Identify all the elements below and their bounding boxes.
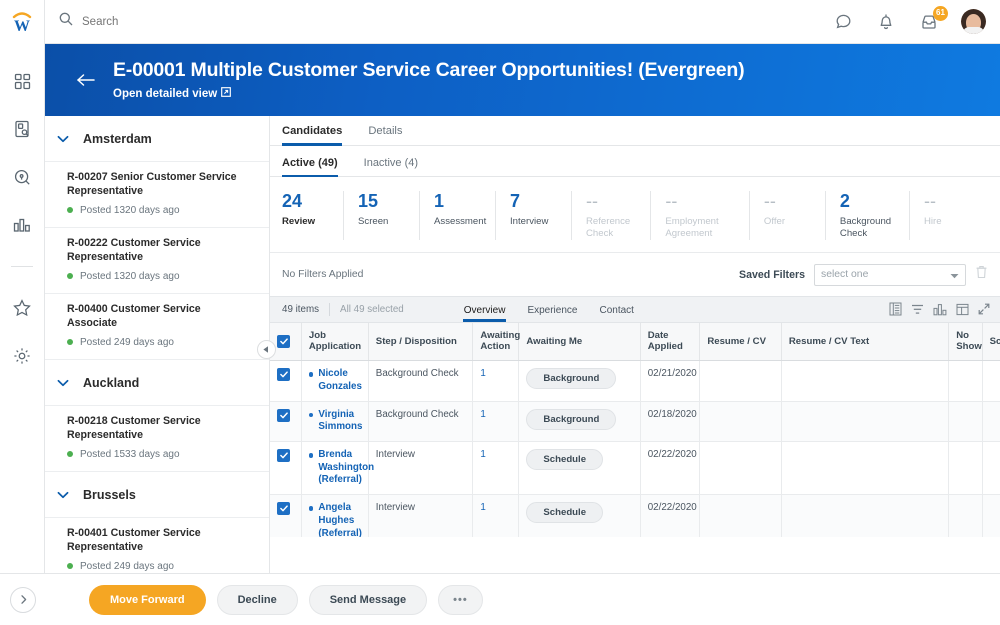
main-tabs: CandidatesDetails [270,116,1000,146]
search-area[interactable] [59,12,832,31]
column-header-sc[interactable]: Sc [982,323,1000,361]
chat-bubble-icon[interactable] [832,11,854,33]
cell-step: Interview [368,442,473,495]
pipeline-stage[interactable]: --Employment Agreement [665,191,750,240]
grid-toolbar-icons [889,302,990,316]
search-input[interactable] [82,16,402,28]
pipeline-stage-count: 2 [840,191,895,212]
pipeline-stage[interactable]: 15Screen [358,191,420,240]
requisition-title: R-00401 Customer Service Representative [67,527,253,555]
cell-resume [700,442,782,495]
subtab-inactive-4-[interactable]: Inactive (4) [364,157,418,176]
row-checkbox[interactable] [277,449,290,462]
no-filters-applied-label: No Filters Applied [282,269,363,280]
requisition-title: R-00222 Customer Service Representative [67,237,253,265]
requisition-title: R-00207 Senior Customer Service Represen… [67,171,253,199]
awaiting-action-cell: 1 [473,442,519,495]
awaiting-me-action-button[interactable]: Schedule [526,449,603,470]
chevron-down-icon [950,266,959,284]
candidate-status-dot-icon [309,453,314,458]
cell-date_applied: 02/18/2020 [640,401,700,441]
page-banner: E-00001 Multiple Customer Service Career… [45,44,1000,116]
awaiting-me-action-button[interactable]: Schedule [526,502,603,523]
pipeline-stage[interactable]: --Offer [764,191,826,240]
awaiting-action-count[interactable]: 1 [480,502,485,513]
action-buttons: Move ForwardDeclineSend Message••• [89,585,483,615]
apps-grid-icon[interactable] [11,70,33,92]
pipeline-stage-label: Reference Check [586,216,636,240]
cell-date_applied: 02/22/2020 [640,495,700,537]
pipeline-stage[interactable]: --Reference Check [586,191,651,240]
candidate-name-link[interactable]: Nicole Gonzales [318,368,362,393]
cell-step: Background Check [368,401,473,441]
chart-icon[interactable] [933,303,947,316]
row-checkbox[interactable] [277,368,290,381]
candidate-name-link[interactable]: Virginia Simmons [318,409,362,434]
pipeline-stage-count: 24 [282,191,329,212]
grid-item-count: 49 items [282,304,319,315]
pipeline-stage-label: Hire [924,216,972,228]
pipeline-stage-label: Employment Agreement [665,216,735,240]
candidate-name-link[interactable]: Brenda Washington (Referral) [318,449,374,487]
main-content: CandidatesDetails Active (49)Inactive (4… [270,116,1000,573]
awaiting-me-action-button[interactable]: Background [526,409,616,430]
awaiting-action-count[interactable]: 1 [480,409,485,420]
status-dot-icon [67,563,73,569]
requisition-posted: Posted 249 days ago [80,561,174,572]
saved-filters-label: Saved Filters [739,269,805,281]
awaiting-action-cell: 1 [473,495,519,537]
column-header-step[interactable]: Step / Disposition [368,323,473,361]
row-checkbox[interactable] [277,502,290,515]
cell-resume_text [781,401,948,441]
pipeline-stage-count: -- [665,191,735,212]
user-avatar[interactable] [961,9,986,34]
candidate-status-dot-icon [309,372,314,377]
row-checkbox-cell [270,361,301,401]
candidate-name-cell: Brenda Washington (Referral) [301,442,368,495]
list-view-icon[interactable] [889,302,902,316]
city-group-label: Brussels [83,488,136,502]
move-forward-button[interactable]: Move Forward [89,585,206,615]
cell-resume_text [781,495,948,537]
awaiting-me-cell: Background [519,401,640,441]
select-all-header [270,323,301,361]
candidate-name-link[interactable]: Angela Hughes (Referral) [318,502,362,536]
columns-icon[interactable] [956,303,969,316]
bell-icon[interactable] [875,11,897,33]
filters-row: No Filters Applied Saved Filters select … [270,253,1000,296]
city-group-header[interactable]: Auckland [45,360,269,406]
column-header-awaiting_action[interactable]: Awaiting Action [473,323,519,361]
pipeline-stage-count: 7 [510,191,557,212]
cell-date_applied: 02/21/2020 [640,361,700,401]
bar-chart-icon[interactable] [11,214,33,236]
pipeline-stage-count: 15 [358,191,405,212]
requisition-title: R-00400 Customer Service Associate [67,303,253,331]
city-group-header[interactable]: Amsterdam [45,116,269,162]
tab-details[interactable]: Details [368,125,402,145]
table-header-row: Job ApplicationStep / DispositionAwaitin… [270,323,1000,361]
cell-sc [982,495,1000,537]
cell-resume_text [781,361,948,401]
decline-button[interactable]: Decline [217,585,298,615]
requisition-posted: Posted 1320 days ago [80,271,180,282]
pipeline-stage[interactable]: 1Assessment [434,191,496,240]
pipeline-stage-count: 1 [434,191,481,212]
candidate-status-dot-icon [309,506,314,511]
pipeline-stage[interactable]: 7Interview [510,191,572,240]
left-icon-rail: W [0,0,45,625]
awaiting-me-cell: Schedule [519,442,640,495]
pipeline-stage-count: -- [586,191,636,212]
pipeline-stage[interactable]: --Hire [924,191,986,240]
requisition-item[interactable]: R-00401 Customer Service RepresentativeP… [45,518,269,573]
chevron-left-circle-icon[interactable] [257,340,276,359]
pipeline-stages: 24Review15Screen1Assessment7Interview--R… [270,177,1000,253]
search-icon [59,12,73,31]
column-header-resume[interactable]: Resume / CV [700,323,782,361]
bottom-action-bar: Move ForwardDeclineSend Message••• [0,573,1000,625]
tab-candidates[interactable]: Candidates [282,125,342,145]
cell-no_show [949,401,982,441]
column-header-name[interactable]: Job Application [301,323,368,361]
requisition-title: R-00218 Customer Service Representative [67,415,253,443]
cell-resume [700,401,782,441]
requisition-item[interactable]: R-00218 Customer Service RepresentativeP… [45,406,269,472]
send-message-button[interactable]: Send Message [309,585,427,615]
saved-filters-select[interactable]: select one [814,264,966,286]
status-dot-icon [67,273,73,279]
awaiting-me-cell: Background [519,361,640,401]
cell-sc [982,361,1000,401]
chevron-down-icon [57,486,69,504]
requisition-posted: Posted 1533 days ago [80,449,180,460]
awaiting-me-cell: Schedule [519,495,640,537]
table-row[interactable]: Virginia SimmonsBackground Check1Backgro… [270,401,1000,441]
row-checkbox[interactable] [277,409,290,422]
cell-no_show [949,495,982,537]
chevron-down-icon [57,374,69,392]
trash-icon[interactable] [975,265,988,284]
pipeline-stage-label: Offer [764,216,811,228]
external-link-icon [221,87,231,100]
expand-icon[interactable] [978,303,990,315]
page-title: E-00001 Multiple Customer Service Career… [113,60,744,81]
select-all-checkbox[interactable] [277,335,290,348]
city-group-label: Amsterdam [83,132,152,146]
candidates-table-scroll[interactable]: Job ApplicationStep / DispositionAwaitin… [270,323,1000,537]
table-row[interactable]: Nicole GonzalesBackground Check1Backgrou… [270,361,1000,401]
chevron-down-icon [57,130,69,148]
city-group-header[interactable]: Brussels [45,472,269,518]
saved-filters-value: select one [821,269,950,280]
requisition-item[interactable]: R-00207 Senior Customer Service Represen… [45,162,269,228]
candidate-name-cell: Virginia Simmons [301,401,368,441]
open-detailed-view-label: Open detailed view [113,88,217,100]
requisition-posted: Posted 249 days ago [80,337,174,348]
candidate-name-cell: Nicole Gonzales [301,361,368,401]
requisition-posted: Posted 1320 days ago [80,205,180,216]
awaiting-action-cell: 1 [473,401,519,441]
cell-step: Background Check [368,361,473,401]
pipeline-stage-label: Background Check [840,216,895,240]
awaiting-action-count[interactable]: 1 [480,368,485,379]
cell-sc [982,401,1000,441]
column-header-awaiting_me[interactable]: Awaiting Me [519,323,640,361]
pipeline-stage-count: -- [924,191,972,212]
column-header-no_show[interactable]: No Show [949,323,982,361]
filter-icon[interactable] [911,303,924,316]
cell-resume [700,361,782,401]
cell-resume [700,495,782,537]
requisition-item[interactable]: R-00400 Customer Service AssociatePosted… [45,294,269,360]
document-search-icon[interactable] [11,118,33,140]
inbox-tray-icon[interactable]: 61 [918,11,940,33]
magnifier-circle-icon[interactable] [11,166,33,188]
row-checkbox-cell [270,401,301,441]
grid-view-experience[interactable]: Experience [527,305,577,322]
table-body: Nicole GonzalesBackground Check1Backgrou… [270,361,1000,537]
pipeline-stage-label: Assessment [434,216,481,228]
chevron-right-circle-icon[interactable] [10,587,36,613]
cell-date_applied: 02/22/2020 [640,442,700,495]
row-checkbox-cell [270,495,301,537]
workday-w-logo[interactable]: W [0,0,44,44]
grid-view-tabs: OverviewExperienceContact [464,297,634,322]
candidate-name-cell: Angela Hughes (Referral) [301,495,368,537]
table-row[interactable]: Brenda Washington (Referral)Interview1Sc… [270,442,1000,495]
city-group-label: Auckland [83,376,139,390]
toolbar-divider [329,303,330,316]
more-actions-button[interactable]: ••• [438,585,483,615]
pipeline-stage-count: -- [764,191,811,212]
pipeline-stage[interactable]: 24Review [282,191,344,240]
inbox-badge: 61 [933,6,948,21]
awaiting-action-cell: 1 [473,361,519,401]
grid-view-overview[interactable]: Overview [464,305,506,322]
top-bar: 61 [45,0,1000,44]
column-header-date_applied[interactable]: Date Applied [640,323,700,361]
top-bar-actions: 61 [832,9,986,34]
grid-view-contact[interactable]: Contact [599,305,633,322]
svg-text:W: W [14,18,30,34]
awaiting-me-action-button[interactable]: Background [526,368,616,389]
subtab-active-49-[interactable]: Active (49) [282,157,338,176]
status-dot-icon [67,207,73,213]
requisition-sidebar: AmsterdamR-00207 Senior Customer Service… [45,116,270,573]
status-dot-icon [67,339,73,345]
awaiting-action-count[interactable]: 1 [480,449,485,460]
open-detailed-view-link[interactable]: Open detailed view [113,87,744,100]
cell-no_show [949,361,982,401]
cell-step: Interview [368,495,473,537]
cell-no_show [949,442,982,495]
pipeline-stage-label: Screen [358,216,405,228]
requisition-item[interactable]: R-00222 Customer Service RepresentativeP… [45,228,269,294]
cell-resume_text [781,442,948,495]
pipeline-stage[interactable]: 2Background Check [840,191,910,240]
column-header-resume_text[interactable]: Resume / CV Text [781,323,948,361]
star-icon[interactable] [11,297,33,319]
row-checkbox-cell [270,442,301,495]
candidate-status-dot-icon [309,413,314,418]
grid-selected-count: All 49 selected [340,304,404,315]
pipeline-stage-label: Review [282,216,329,228]
arrow-left-icon[interactable] [73,67,99,93]
grid-toolbar: 49 items All 49 selected OverviewExperie… [270,296,1000,323]
candidate-subtabs: Active (49)Inactive (4) [270,146,1000,177]
rail-divider [11,266,33,267]
pipeline-stage-label: Interview [510,216,557,228]
table-row[interactable]: Angela Hughes (Referral)Interview1Schedu… [270,495,1000,537]
gear-icon[interactable] [11,345,33,367]
cell-sc [982,442,1000,495]
candidates-table: Job ApplicationStep / DispositionAwaitin… [270,323,1000,537]
status-dot-icon [67,451,73,457]
